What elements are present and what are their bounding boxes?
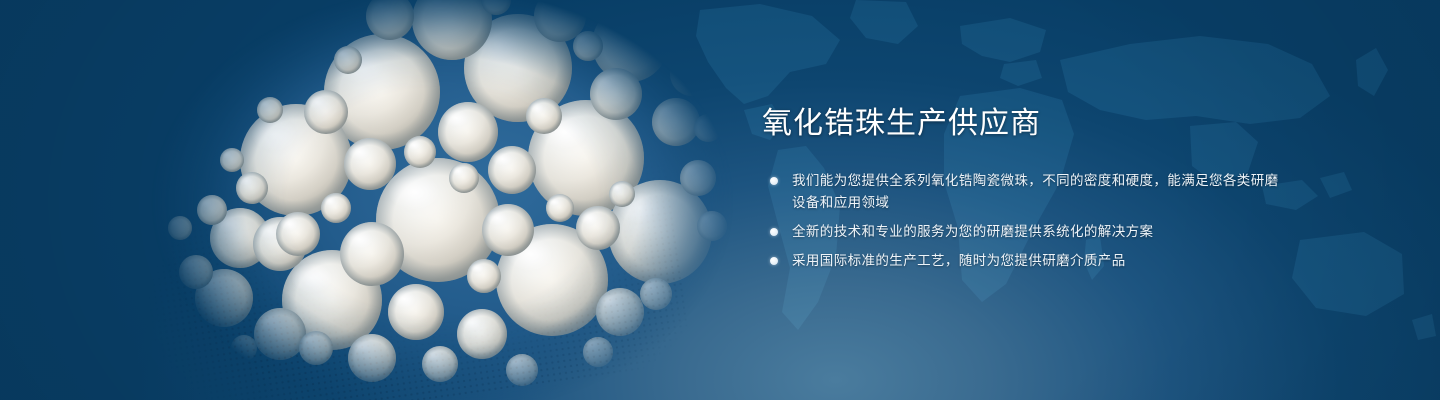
bullet-dot-icon	[770, 257, 778, 265]
bullet-dot-icon	[770, 177, 778, 185]
hero-banner: 氧化锆珠生产供应商 我们能为您提供全系列氧化锆陶瓷微珠，不同的密度和硬度，能满足…	[0, 0, 1440, 400]
feature-list: 我们能为您提供全系列氧化锆陶瓷微珠，不同的密度和硬度，能满足您各类研磨设备和应用…	[762, 170, 1282, 272]
feature-list-item: 我们能为您提供全系列氧化锆陶瓷微珠，不同的密度和硬度，能满足您各类研磨设备和应用…	[762, 170, 1282, 214]
banner-headline: 氧化锆珠生产供应商	[762, 104, 1282, 144]
banner-copy: 氧化锆珠生产供应商 我们能为您提供全系列氧化锆陶瓷微珠，不同的密度和硬度，能满足…	[762, 104, 1282, 279]
bullet-dot-icon	[770, 228, 778, 236]
feature-text: 我们能为您提供全系列氧化锆陶瓷微珠，不同的密度和硬度，能满足您各类研磨设备和应用…	[792, 170, 1282, 214]
zirconia-beads-photo	[120, 0, 740, 400]
feature-list-item: 全新的技术和专业的服务为您的研磨提供系统化的解决方案	[762, 221, 1282, 243]
feature-list-item: 采用国际标准的生产工艺，随时为您提供研磨介质产品	[762, 250, 1282, 272]
feature-text: 采用国际标准的生产工艺，随时为您提供研磨介质产品	[792, 250, 1282, 272]
feature-text: 全新的技术和专业的服务为您的研磨提供系统化的解决方案	[792, 221, 1282, 243]
